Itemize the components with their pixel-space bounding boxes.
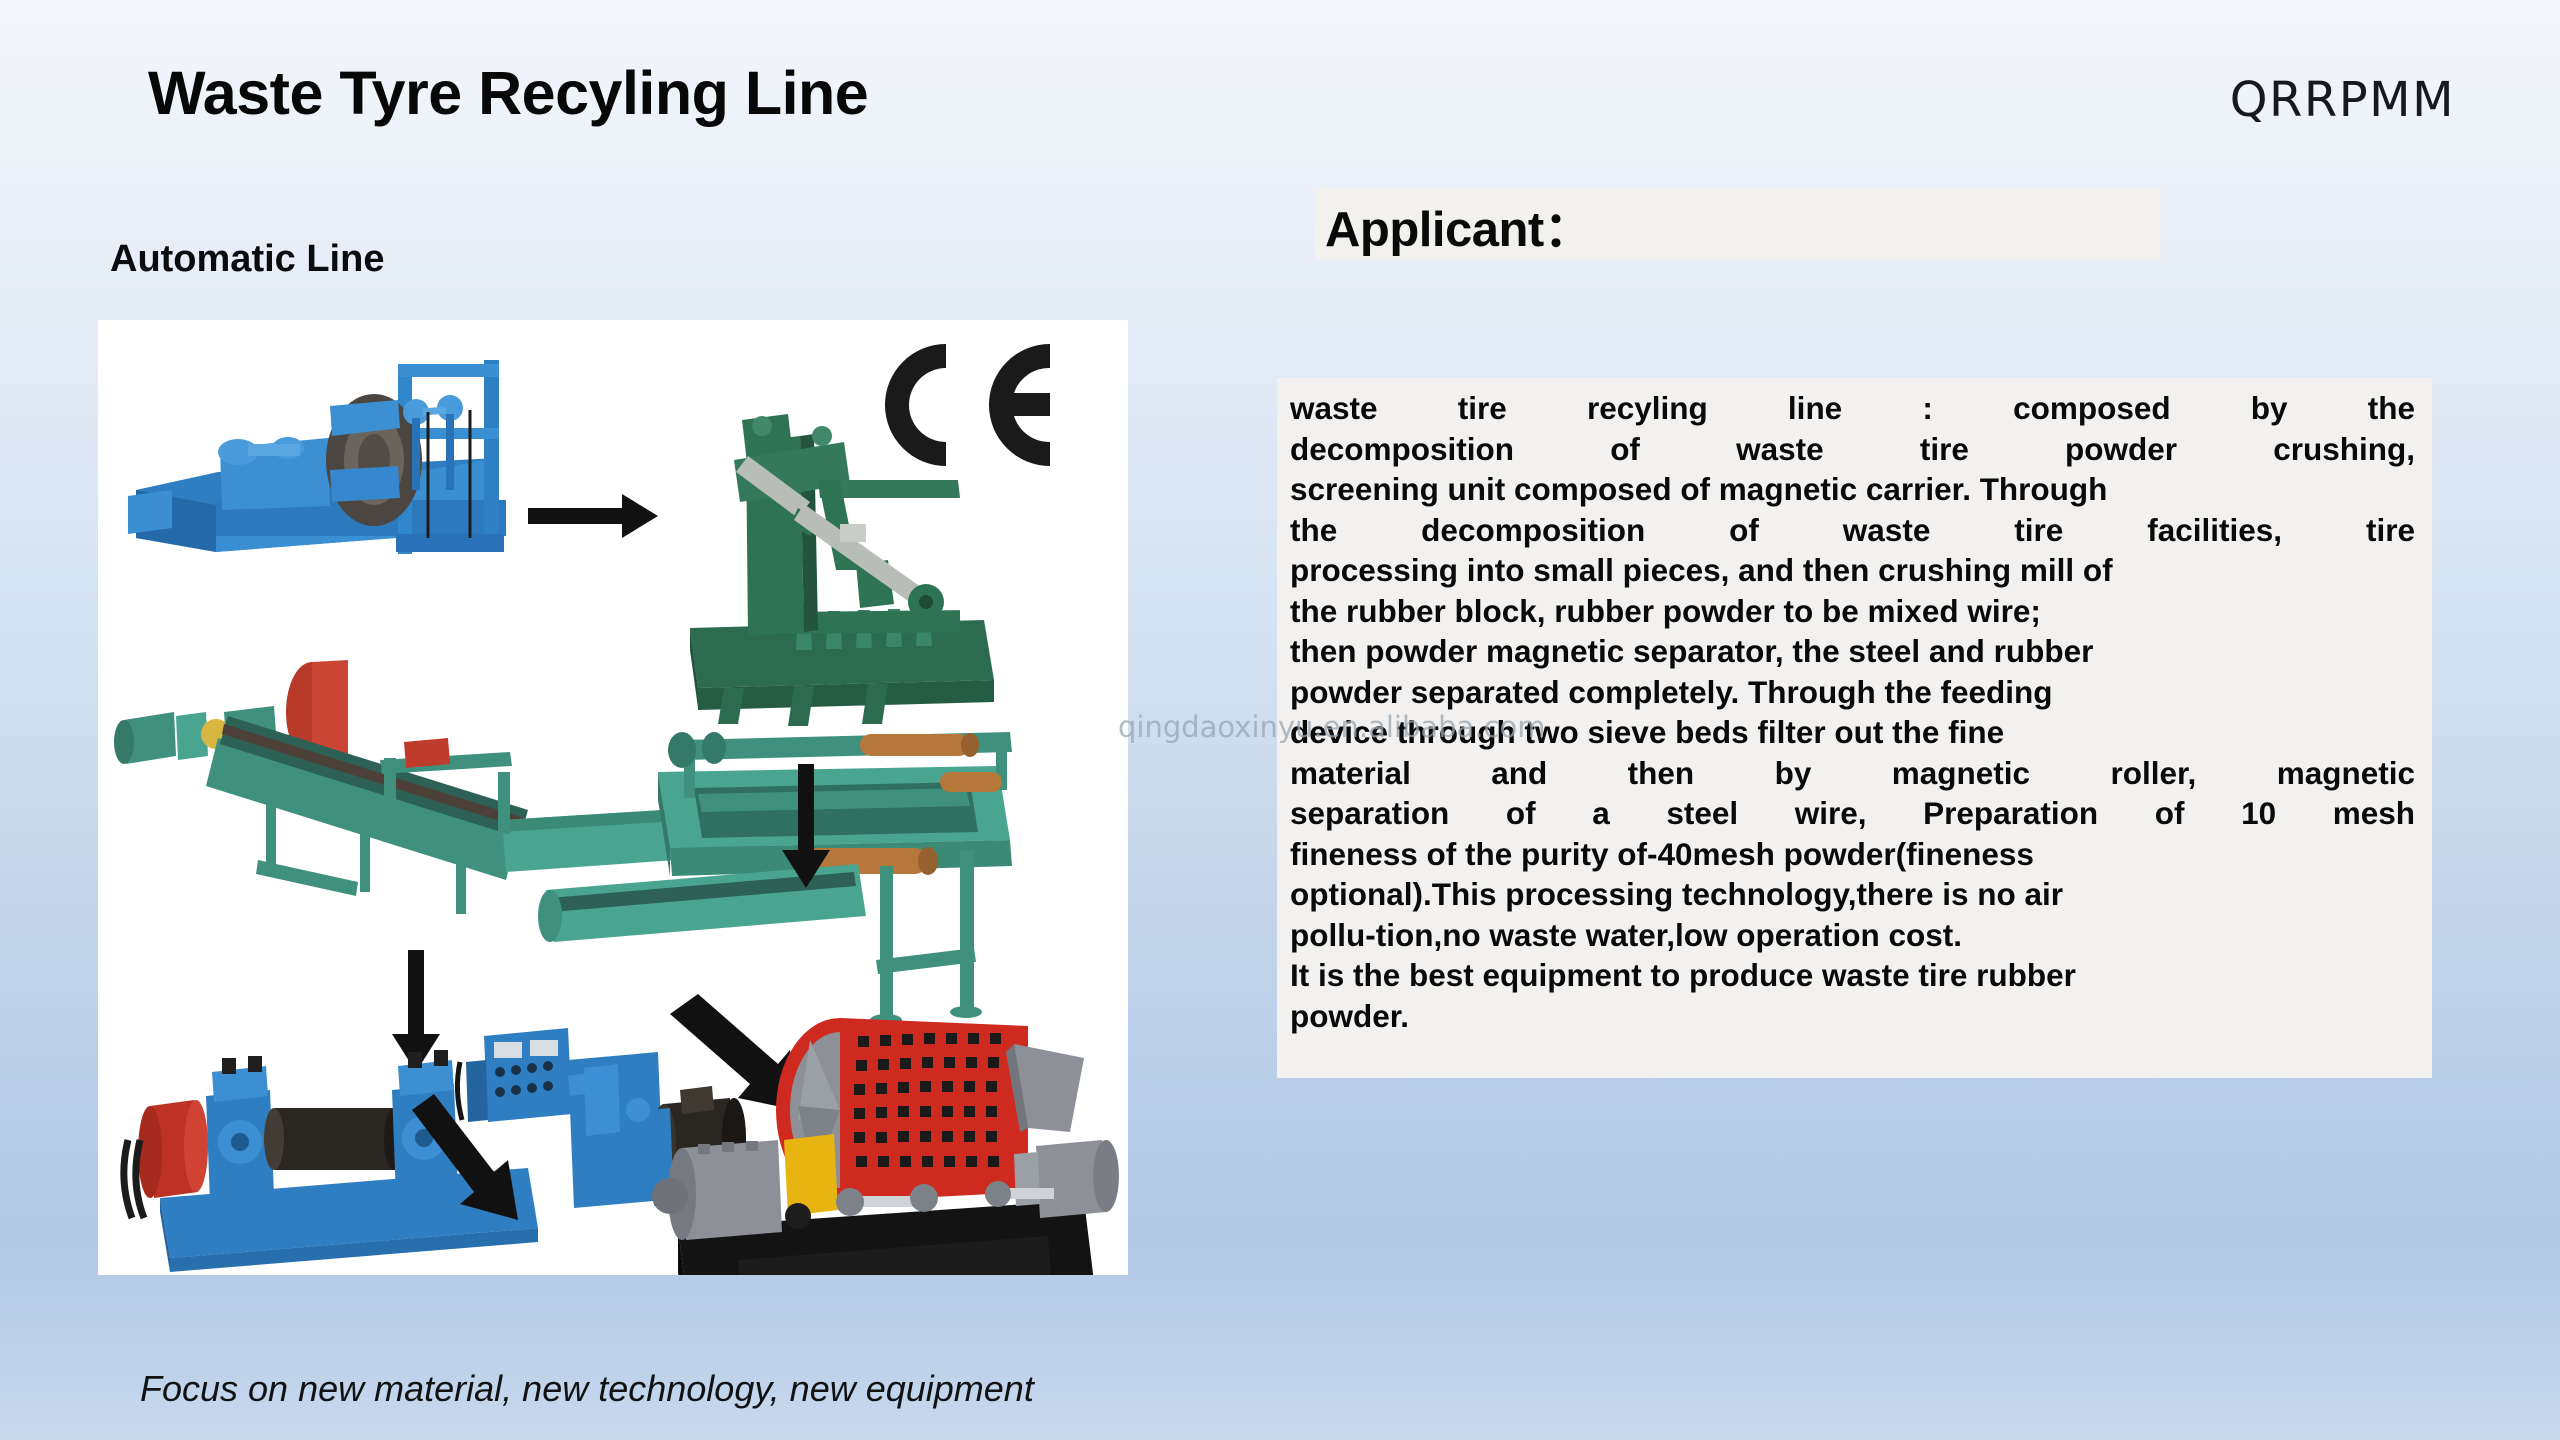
- description-text: waste tire recyling line : composed by t…: [1290, 388, 2415, 1036]
- description-line: the decomposition of waste tire faciliti…: [1290, 510, 2415, 551]
- footer-tagline: Focus on new material, new technology, n…: [140, 1368, 1034, 1410]
- description-line: separation of a steel wire, Preparation …: [1290, 793, 2415, 834]
- description-line: processing into small pieces, and then c…: [1290, 550, 2415, 591]
- description-line: It is the best equipment to produce wast…: [1290, 955, 2415, 996]
- description-line: powder separated completely. Through the…: [1290, 672, 2415, 713]
- description-line: material and then by magnetic roller, ma…: [1290, 753, 2415, 794]
- description-line: waste tire recyling line : composed by t…: [1290, 388, 2415, 429]
- description-line: decomposition of waste tire powder crush…: [1290, 429, 2415, 470]
- process-photo-collage: [98, 320, 1128, 1275]
- description-line: pollu-tion,no waste water,low operation …: [1290, 915, 2415, 956]
- page-title: Waste Tyre Recyling Line: [148, 58, 868, 128]
- description-line: screening unit composed of magnetic carr…: [1290, 469, 2415, 510]
- description-line: the rubber block, rubber powder to be mi…: [1290, 591, 2415, 632]
- description-line: then powder magnetic separator, the stee…: [1290, 631, 2415, 672]
- section-subtitle-automatic-line: Automatic Line: [110, 238, 384, 281]
- brand-logo-text: QRRPMM: [2230, 72, 2455, 128]
- description-line: fineness of the purity of-40mesh powder(…: [1290, 834, 2415, 875]
- slide-root: Waste Tyre Recyling Line QRRPMM Automati…: [0, 0, 2560, 1440]
- description-line: powder.: [1290, 996, 2415, 1037]
- collage-svg: [98, 320, 1128, 1275]
- applicant-label: Applicant：: [1325, 190, 1592, 261]
- description-line: device through two sieve beds filter out…: [1290, 712, 2415, 753]
- description-line: optional).This processing technology,the…: [1290, 874, 2415, 915]
